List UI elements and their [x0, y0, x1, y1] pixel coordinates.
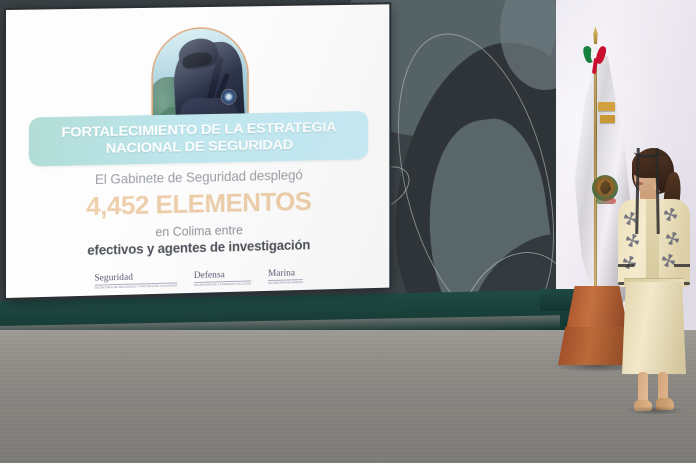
logo-subtitle: SECRETARÍA DE LA DEFENSA NACIONAL: [194, 282, 252, 287]
logo-subtitle: SECRETARÍA DE MARINA: [268, 281, 303, 285]
flag-ribbon-bow: [583, 44, 607, 70]
logo-defensa: Defensa SECRETARÍA DE LA DEFENSA NACIONA…: [194, 270, 252, 288]
logo-seguridad: Seguridad SECRETARÍA DE SEGURIDAD Y PROT…: [94, 272, 177, 291]
speaker-shadow: [626, 406, 684, 415]
logo-marina: Marina SECRETARÍA DE MARINA: [268, 268, 303, 285]
slide-figure: 4,452 ELEMENTOS: [6, 184, 389, 224]
flag-tag: [598, 102, 615, 111]
jacket-cuff-left: [618, 264, 634, 267]
logo-subtitle: SECRETARÍA DE SEGURIDAD Y PROTECCIÓN CIU…: [94, 284, 177, 290]
skirt: [622, 282, 686, 374]
jacket-cuff-right: [674, 264, 690, 267]
projection-screen: FORTALECIMIENTO DE LA ESTRATEGIA NACIONA…: [6, 4, 389, 298]
embroidery-flower-icon: [624, 212, 637, 225]
slide-title-text: FORTALECIMIENTO DE LA ESTRATEGIA NACIONA…: [61, 119, 336, 158]
slide-surface: FORTALECIMIENTO DE LA ESTRATEGIA NACIONA…: [6, 4, 389, 298]
agency-logos: Seguridad SECRETARÍA DE SEGURIDAD Y PROT…: [6, 266, 389, 293]
flag-tag: [600, 115, 615, 123]
embroidery-flower-icon: [664, 208, 677, 221]
logo-name: Marina: [268, 268, 303, 279]
embroidery-flower-icon: [626, 234, 639, 247]
slide-title-banner: FORTALECIMIENTO DE LA ESTRATEGIA NACIONA…: [29, 111, 368, 167]
embroidery-flower-icon: [623, 256, 636, 269]
logo-name: Defensa: [194, 270, 252, 281]
embroidery-flower-icon: [666, 232, 679, 245]
speaker-figure: [612, 146, 696, 411]
screenshot-root: FORTALECIMIENTO DE LA ESTRATEGIA NACIONA…: [0, 0, 696, 463]
